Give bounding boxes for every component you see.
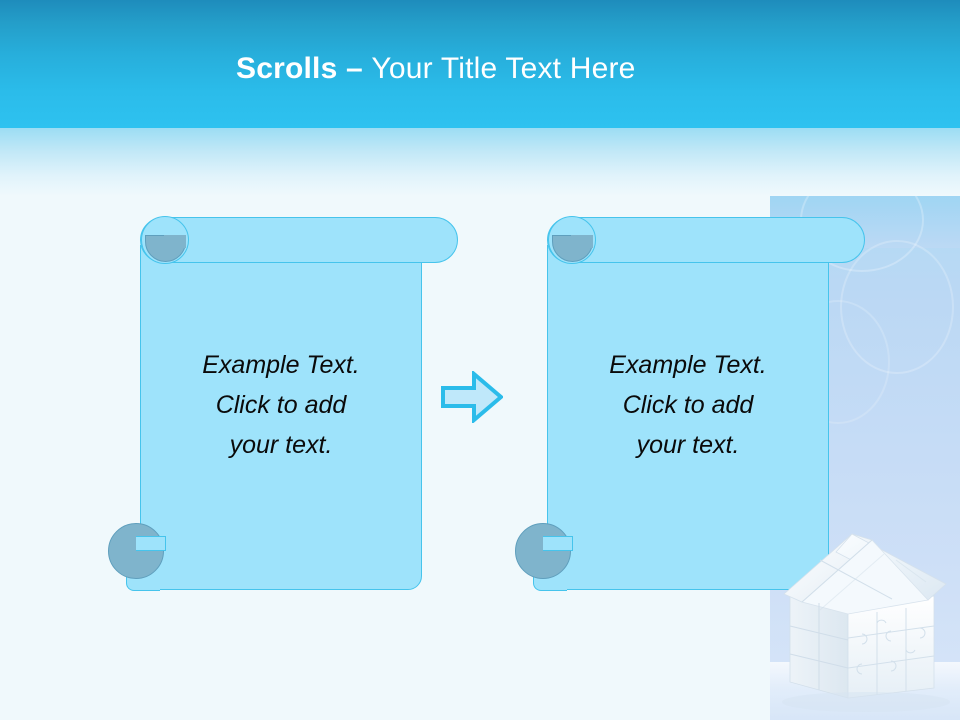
scroll-bottom-curl-disc-icon	[515, 523, 571, 579]
scroll-text-right[interactable]: Example Text. Click to add your text.	[547, 345, 829, 465]
page-title-bold: Scrolls –	[236, 52, 371, 85]
scroll-top-curl-shadow-cap	[164, 235, 186, 248]
right-arrow-icon	[441, 371, 503, 423]
puzzle-house-icon	[776, 522, 960, 720]
scroll-bottom-curl-disc-icon	[108, 523, 164, 579]
header-fade	[0, 128, 960, 196]
page-title-normal: Your Title Text Here	[371, 52, 635, 85]
page-title: Scrolls – Your Title Text Here	[236, 52, 636, 86]
scroll-bottom-curl-notch	[543, 536, 573, 551]
scroll-bottom-curl-notch	[136, 536, 166, 551]
scroll-shape-left[interactable]: Example Text. Click to add your text.	[120, 205, 480, 605]
scroll-text-left[interactable]: Example Text. Click to add your text.	[140, 345, 422, 465]
scroll-top-curl-shadow-cap	[571, 235, 593, 248]
slide-canvas: Scrolls – Your Title Text Here Example T…	[0, 0, 960, 720]
